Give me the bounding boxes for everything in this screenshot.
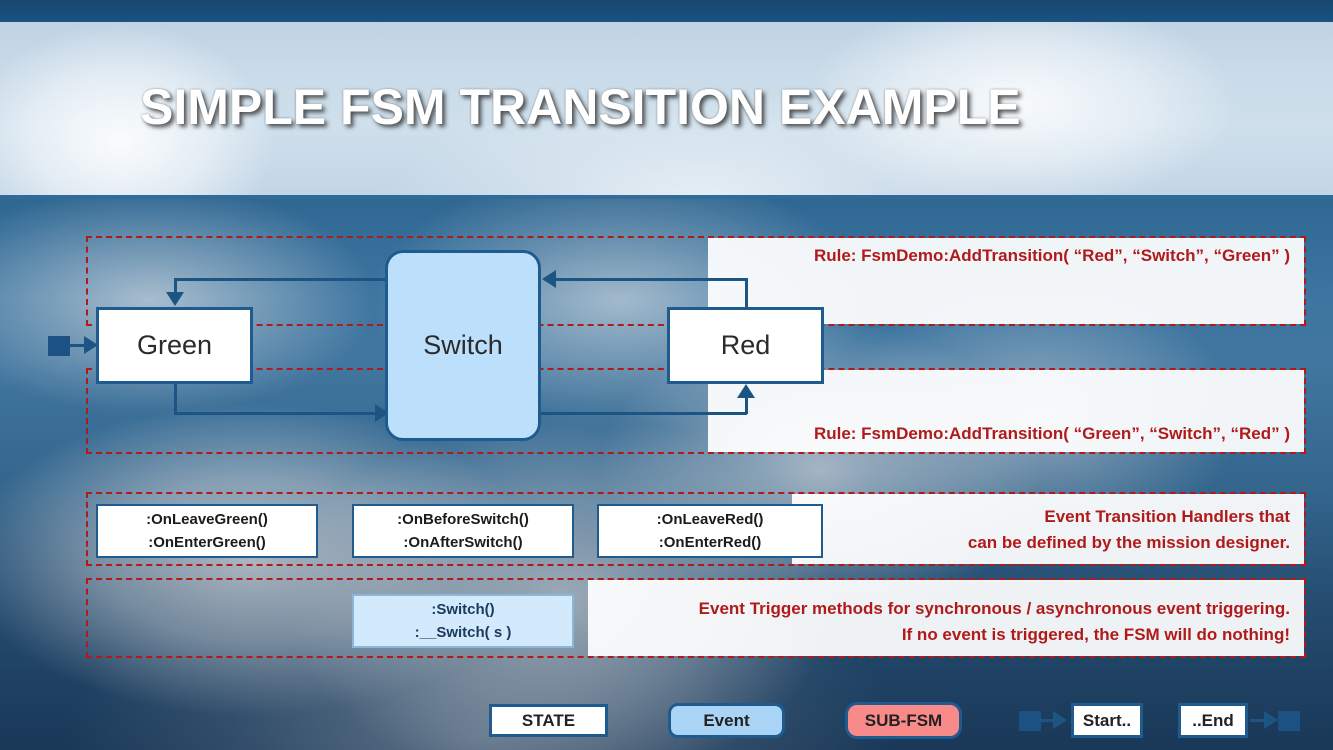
handler-box-switch[interactable]: :OnBeforeSwitch() :OnAfterSwitch() bbox=[352, 504, 574, 558]
handler-box-switch-line1: :OnBeforeSwitch() bbox=[397, 508, 529, 531]
trigger-box-switch-line2: :__Switch( s ) bbox=[415, 621, 512, 644]
connector-switch-to-red-vertical bbox=[745, 398, 748, 414]
handlers-note-line1: Event Transition Handlers that bbox=[968, 504, 1290, 530]
legend-item-event-label: Event bbox=[703, 711, 749, 731]
slide-root: SIMPLE FSM TRANSITION EXAMPLE Rule: FsmD… bbox=[0, 0, 1333, 750]
legend-item-end[interactable]: ..End bbox=[1178, 703, 1248, 738]
triggers-note-line2: If no event is triggered, the FSM will d… bbox=[699, 622, 1290, 648]
arrowhead-into-switch-top bbox=[542, 270, 556, 288]
start-marker-square bbox=[48, 336, 70, 356]
handler-box-red[interactable]: :OnLeaveRed() :OnEnterRed() bbox=[597, 504, 823, 558]
legend-start-square bbox=[1019, 711, 1041, 731]
handler-box-green-line1: :OnLeaveGreen() bbox=[146, 508, 268, 531]
triggers-region: Event Trigger methods for synchronous / … bbox=[86, 578, 1306, 658]
arrowhead-legend-start bbox=[1053, 711, 1067, 729]
connector-switch-to-red-horizontal bbox=[540, 412, 747, 415]
handler-box-red-line2: :OnEnterRed() bbox=[659, 531, 762, 554]
legend-item-start[interactable]: Start.. bbox=[1071, 703, 1143, 738]
connector-switch-to-green-horizontal bbox=[174, 278, 392, 281]
legend-item-end-label: ..End bbox=[1192, 711, 1234, 731]
legend-item-state[interactable]: STATE bbox=[489, 704, 608, 737]
handlers-note: Event Transition Handlers that can be de… bbox=[968, 504, 1290, 555]
handler-box-green-line2: :OnEnterGreen() bbox=[148, 531, 266, 554]
legend-item-subfsm-label: SUB-FSM bbox=[865, 711, 942, 731]
page-title: SIMPLE FSM TRANSITION EXAMPLE bbox=[140, 78, 1021, 136]
arrowhead-legend-end bbox=[1264, 711, 1278, 729]
connector-green-to-switch-horizontal bbox=[174, 412, 378, 415]
connector-green-to-switch-vertical bbox=[174, 383, 177, 414]
rule-label-red-to-green: Rule: FsmDemo:AddTransition( “Red”, “Swi… bbox=[814, 246, 1290, 266]
triggers-note: Event Trigger methods for synchronous / … bbox=[699, 596, 1290, 649]
trigger-box-switch[interactable]: :Switch() :__Switch( s ) bbox=[352, 594, 574, 648]
handler-box-green[interactable]: :OnLeaveGreen() :OnEnterGreen() bbox=[96, 504, 318, 558]
handlers-note-line2: can be defined by the mission designer. bbox=[968, 530, 1290, 556]
legend-item-event[interactable]: Event bbox=[668, 703, 785, 738]
legend-item-subfsm[interactable]: SUB-FSM bbox=[845, 702, 962, 739]
event-node-switch[interactable]: Switch bbox=[385, 250, 541, 441]
title-banner-divider bbox=[0, 195, 1333, 199]
state-node-red[interactable]: Red bbox=[667, 307, 824, 384]
legend-item-state-label: STATE bbox=[522, 711, 575, 731]
arrowhead-into-red bbox=[737, 384, 755, 398]
handler-box-red-line1: :OnLeaveRed() bbox=[657, 508, 764, 531]
state-node-green-label: Green bbox=[137, 330, 212, 361]
handler-box-switch-line2: :OnAfterSwitch() bbox=[403, 531, 522, 554]
legend-end-square bbox=[1278, 711, 1300, 731]
state-node-green[interactable]: Green bbox=[96, 307, 253, 384]
state-node-red-label: Red bbox=[721, 330, 771, 361]
connector-red-to-switch-horizontal bbox=[556, 278, 748, 281]
arrowhead-into-green bbox=[166, 292, 184, 306]
connector-red-to-switch-vertical bbox=[745, 278, 748, 308]
legend-item-start-label: Start.. bbox=[1083, 711, 1131, 731]
event-node-switch-label: Switch bbox=[423, 330, 503, 361]
top-accent-bar bbox=[0, 0, 1333, 22]
trigger-box-switch-line1: :Switch() bbox=[431, 598, 494, 621]
rule-label-green-to-red: Rule: FsmDemo:AddTransition( “Green”, “S… bbox=[814, 424, 1290, 444]
triggers-note-line1: Event Trigger methods for synchronous / … bbox=[699, 596, 1290, 622]
